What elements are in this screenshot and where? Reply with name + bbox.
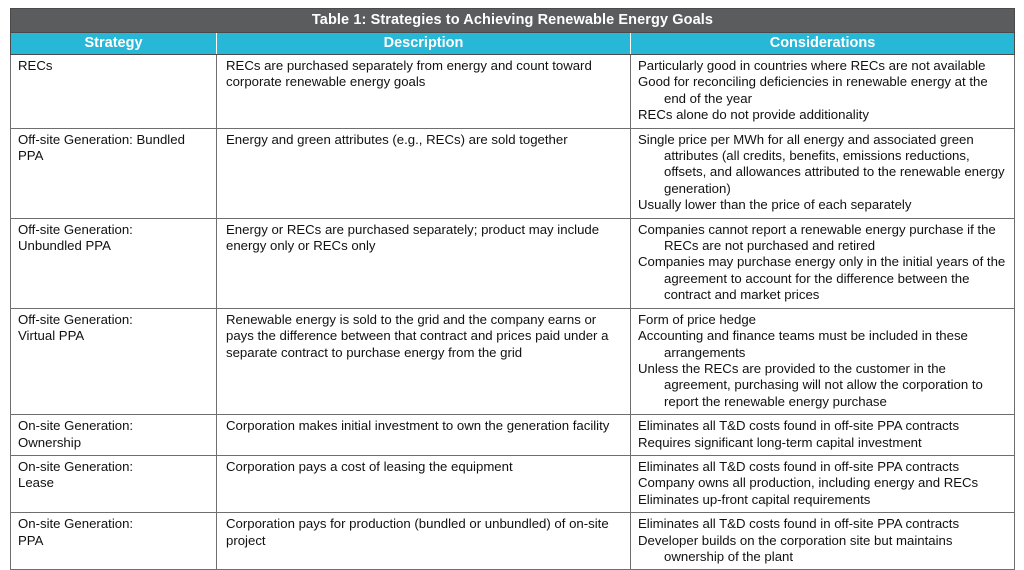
consideration-item: Usually lower than the price of each sep… xyxy=(638,197,1008,213)
consideration-item: Eliminates all T&D costs found in off-si… xyxy=(638,516,1008,532)
description-text: Corporation pays a cost of leasing the e… xyxy=(226,459,624,475)
table-row: Off-site Generation:Virtual PPARenewable… xyxy=(11,308,1015,414)
table-row: On-site Generation:OwnershipCorporation … xyxy=(11,415,1015,456)
cell-strategy: Off-site Generation:Unbundled PPA xyxy=(11,218,217,308)
table-body: RECsRECs are purchased separately from e… xyxy=(11,55,1015,570)
consideration-item: RECs alone do not provide additionality xyxy=(638,107,1008,123)
strategy-text-line2: Lease xyxy=(18,475,210,491)
page-root: Table 1: Strategies to Achieving Renewab… xyxy=(0,0,1024,528)
table-head: Table 1: Strategies to Achieving Renewab… xyxy=(11,9,1015,55)
cell-strategy: RECs xyxy=(11,55,217,129)
cell-considerations: Eliminates all T&D costs found in off-si… xyxy=(631,455,1015,512)
cell-considerations: Form of price hedgeAccounting and financ… xyxy=(631,308,1015,414)
strategy-text: Off-site Generation:Virtual PPA xyxy=(18,312,210,345)
consideration-item: Particularly good in countries where REC… xyxy=(638,58,1008,74)
considerations-list: Form of price hedgeAccounting and financ… xyxy=(638,312,1008,410)
strategy-text-line2: Unbundled PPA xyxy=(18,238,210,254)
cell-strategy: On-site Generation:Ownership xyxy=(11,415,217,456)
cell-considerations: Particularly good in countries where REC… xyxy=(631,55,1015,129)
cell-description: Corporation makes initial investment to … xyxy=(217,415,631,456)
cell-strategy: Off-site Generation: BundledPPA xyxy=(11,128,217,218)
consideration-item: Accounting and finance teams must be inc… xyxy=(638,328,1008,361)
cell-considerations: Eliminates all T&D costs found in off-si… xyxy=(631,513,1015,570)
consideration-item: Eliminates all T&D costs found in off-si… xyxy=(638,418,1008,434)
considerations-list: Single price per MWh for all energy and … xyxy=(638,132,1008,214)
table-row: On-site Generation:PPACorporation pays f… xyxy=(11,513,1015,570)
cell-description: Corporation pays a cost of leasing the e… xyxy=(217,455,631,512)
table-container: Table 1: Strategies to Achieving Renewab… xyxy=(10,8,1014,570)
table-title-row: Table 1: Strategies to Achieving Renewab… xyxy=(11,9,1015,33)
cell-considerations: Single price per MWh for all energy and … xyxy=(631,128,1015,218)
consideration-item: Developer builds on the corporation site… xyxy=(638,533,1008,566)
column-header-description: Description xyxy=(217,33,631,55)
table-row: RECsRECs are purchased separately from e… xyxy=(11,55,1015,129)
table-title: Table 1: Strategies to Achieving Renewab… xyxy=(11,9,1015,33)
consideration-item: Single price per MWh for all energy and … xyxy=(638,132,1008,198)
considerations-list: Eliminates all T&D costs found in off-si… xyxy=(638,418,1008,451)
cell-considerations: Eliminates all T&D costs found in off-si… xyxy=(631,415,1015,456)
strategy-text: Off-site Generation:Unbundled PPA xyxy=(18,222,210,255)
consideration-item: Unless the RECs are provided to the cust… xyxy=(638,361,1008,410)
considerations-list: Eliminates all T&D costs found in off-si… xyxy=(638,459,1008,508)
strategy-text: On-site Generation:Lease xyxy=(18,459,210,492)
consideration-item: Companies may purchase energy only in th… xyxy=(638,254,1008,303)
strategy-text: On-site Generation:PPA xyxy=(18,516,210,549)
table-row: Off-site Generation:Unbundled PPAEnergy … xyxy=(11,218,1015,308)
cell-description: Energy or RECs are purchased separately;… xyxy=(217,218,631,308)
consideration-item: Eliminates all T&D costs found in off-si… xyxy=(638,459,1008,475)
column-header-considerations: Considerations xyxy=(631,33,1015,55)
strategy-text: On-site Generation:Ownership xyxy=(18,418,210,451)
cell-strategy: On-site Generation:Lease xyxy=(11,455,217,512)
consideration-item: Requires significant long-term capital i… xyxy=(638,435,1008,451)
strategy-text-line2: PPA xyxy=(18,533,210,549)
description-text: Corporation pays for production (bundled… xyxy=(226,516,624,549)
strategy-text: Off-site Generation: BundledPPA xyxy=(18,132,210,165)
strategy-text-line2: Ownership xyxy=(18,435,210,451)
strategy-text-line2: Virtual PPA xyxy=(18,328,210,344)
consideration-item: Companies cannot report a renewable ener… xyxy=(638,222,1008,255)
consideration-item: Company owns all production, including e… xyxy=(638,475,1008,491)
table-row: Off-site Generation: BundledPPAEnergy an… xyxy=(11,128,1015,218)
considerations-list: Eliminates all T&D costs found in off-si… xyxy=(638,516,1008,565)
cell-description: RECs are purchased separately from energ… xyxy=(217,55,631,129)
description-text: Corporation makes initial investment to … xyxy=(226,418,624,434)
description-text: Energy and green attributes (e.g., RECs)… xyxy=(226,132,624,148)
description-text: RECs are purchased separately from energ… xyxy=(226,58,624,91)
consideration-item: Form of price hedge xyxy=(638,312,1008,328)
strategy-text-line2: PPA xyxy=(18,148,210,164)
description-text: Renewable energy is sold to the grid and… xyxy=(226,312,624,361)
cell-description: Corporation pays for production (bundled… xyxy=(217,513,631,570)
strategies-table: Table 1: Strategies to Achieving Renewab… xyxy=(10,8,1015,570)
cell-strategy: On-site Generation:PPA xyxy=(11,513,217,570)
column-header-strategy: Strategy xyxy=(11,33,217,55)
strategy-text: RECs xyxy=(18,58,210,74)
cell-description: Energy and green attributes (e.g., RECs)… xyxy=(217,128,631,218)
considerations-list: Companies cannot report a renewable ener… xyxy=(638,222,1008,304)
considerations-list: Particularly good in countries where REC… xyxy=(638,58,1008,124)
cell-strategy: Off-site Generation:Virtual PPA xyxy=(11,308,217,414)
column-header-row: Strategy Description Considerations xyxy=(11,33,1015,55)
cell-description: Renewable energy is sold to the grid and… xyxy=(217,308,631,414)
cell-considerations: Companies cannot report a renewable ener… xyxy=(631,218,1015,308)
consideration-item: Eliminates up-front capital requirements xyxy=(638,492,1008,508)
description-text: Energy or RECs are purchased separately;… xyxy=(226,222,624,255)
table-row: On-site Generation:LeaseCorporation pays… xyxy=(11,455,1015,512)
consideration-item: Good for reconciling deficiencies in ren… xyxy=(638,74,1008,107)
